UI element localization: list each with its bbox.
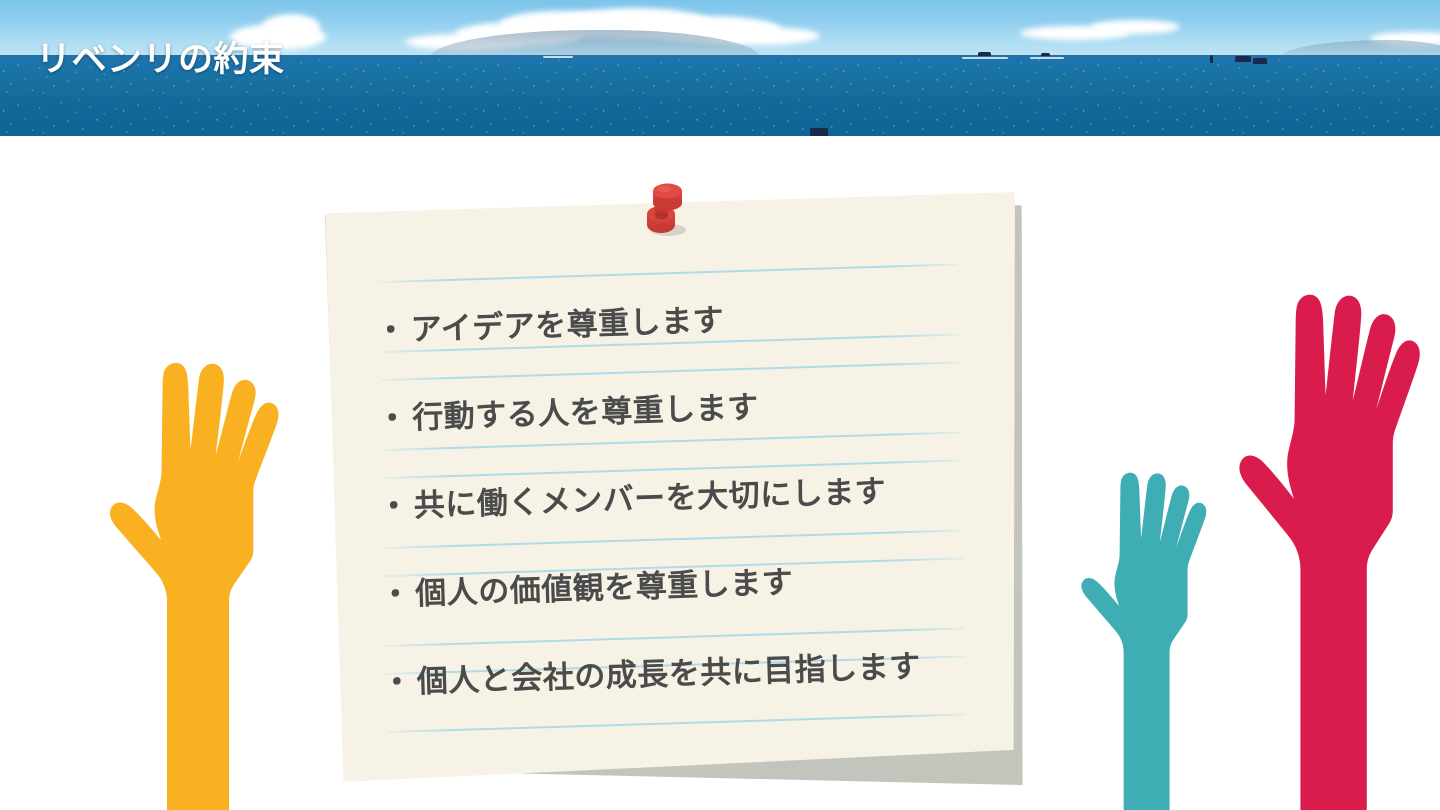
promise-item: ・ 個人の価値観を尊重します bbox=[379, 557, 794, 615]
raised-hand-yellow bbox=[104, 358, 289, 810]
bullet-marker: ・ bbox=[381, 656, 414, 702]
boat-wake bbox=[962, 57, 1008, 59]
boat-icon bbox=[1253, 58, 1267, 64]
boat-icon bbox=[810, 128, 828, 136]
cloud-icon bbox=[1090, 20, 1180, 34]
promise-item-label: 共に働くメンバーを大切にします bbox=[413, 466, 887, 525]
promise-item: ・ 共に働くメンバーを大切にします bbox=[378, 466, 887, 526]
note-paper: ・ アイデアを尊重します ・ 行動する人を尊重します ・ 共に働くメンバーを大切… bbox=[325, 192, 1025, 782]
bullet-marker: ・ bbox=[374, 304, 407, 350]
promise-list: ・ アイデアを尊重します ・ 行動する人を尊重します ・ 共に働くメンバーを大切… bbox=[325, 192, 1025, 782]
cloud-icon bbox=[262, 14, 320, 40]
header-banner: リベンリの約束 bbox=[0, 0, 1440, 136]
boat-icon bbox=[1041, 53, 1050, 56]
slide-canvas: リベンリの約束 bbox=[0, 0, 1440, 810]
promise-item: ・ 個人と会社の成長を共に目指します bbox=[381, 641, 922, 702]
sailboat-icon bbox=[1210, 55, 1213, 63]
boat-icon bbox=[1235, 56, 1251, 62]
bullet-marker: ・ bbox=[378, 480, 411, 526]
boat-icon bbox=[978, 52, 991, 56]
boat-wake bbox=[1030, 57, 1064, 59]
promise-item: ・ アイデアを尊重します bbox=[374, 295, 724, 351]
promise-item: ・ 行動する人を尊重します bbox=[376, 382, 759, 439]
raised-hand-teal bbox=[1077, 469, 1214, 810]
bullet-marker: ・ bbox=[376, 392, 409, 438]
promise-item-label: 個人の価値観を尊重します bbox=[415, 557, 794, 614]
promise-item-label: 行動する人を尊重します bbox=[412, 382, 760, 438]
raised-hand-red bbox=[1233, 289, 1431, 810]
bullet-marker: ・ bbox=[379, 568, 412, 614]
red-pushpin-icon bbox=[636, 178, 692, 240]
promise-item-label: 個人と会社の成長を共に目指します bbox=[416, 641, 921, 701]
promise-item-label: アイデアを尊重します bbox=[410, 295, 725, 350]
page-title: リベンリの約束 bbox=[36, 40, 285, 80]
promise-note: ・ アイデアを尊重します ・ 行動する人を尊重します ・ 共に働くメンバーを大切… bbox=[322, 190, 1022, 795]
boat-wake bbox=[543, 56, 573, 58]
